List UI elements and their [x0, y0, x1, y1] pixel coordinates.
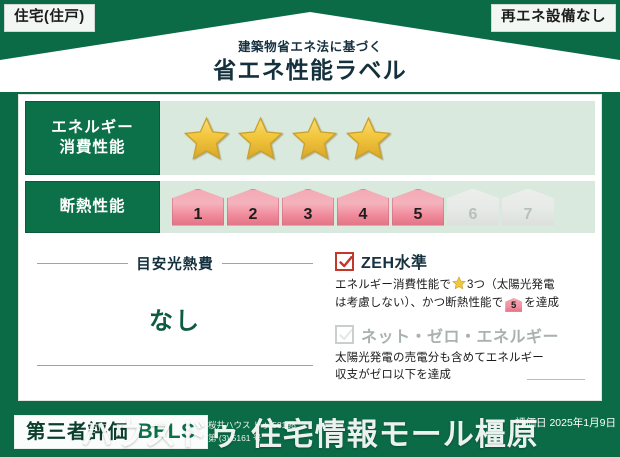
zeh-title: ZEH水準 [361, 249, 428, 273]
standards-panel: ZEH水準 エネルギー消費性能で3つ（太陽光発電は考慮しない）、かつ断熱性能で5… [325, 241, 595, 394]
rule-left [37, 263, 128, 264]
insulation-level-7: 7 [502, 189, 554, 226]
zeh-checkbox[interactable] [335, 252, 354, 271]
energy-performance-row: エネルギー 消費性能 [25, 101, 595, 175]
net-zero-title-row: ネット・ゼロ・エネルギー [335, 323, 591, 347]
insulation-level-number: 4 [359, 207, 368, 223]
inline-insulation-badge: 5 [505, 298, 522, 312]
evaluation-date: 評価日 2025年1月9日 [515, 416, 616, 431]
net-zero-checkbox[interactable] [335, 325, 354, 344]
energy-label-line1: エネルギー [51, 119, 134, 136]
star-icon [346, 116, 391, 161]
insulation-level-number: 5 [414, 207, 423, 223]
insulation-level-4: 4 [337, 189, 389, 226]
insulation-level-2: 2 [227, 189, 279, 226]
footnote-rule [527, 379, 585, 380]
energy-star-rating [160, 101, 595, 175]
energy-cost-panel: 目安光熱費 なし [25, 241, 325, 394]
zeh-desc-b: 3つ（太陽光発電 [467, 279, 555, 291]
insulation-level-number: 6 [469, 207, 478, 223]
evaluation-date-label: 評価日 [515, 417, 547, 429]
insulation-level-number: 1 [194, 207, 203, 223]
inline-star-icon [452, 276, 466, 290]
net-zero-block: ネット・ゼロ・エネルギー 太陽光発電の売電分も含めてエネルギー収支がゼロ以下を達… [335, 323, 591, 386]
renewable-equipment-badge: 再エネ設備なし [491, 4, 616, 32]
energy-label-line2: 消費性能 [59, 139, 125, 156]
insulation-level-number: 7 [524, 207, 533, 223]
zeh-desc-c: は考慮しない）、かつ断熱性能で [335, 297, 503, 309]
evaluation-date-value: 2025年1月9日 [549, 417, 616, 429]
star-icon [184, 116, 229, 161]
insulation-level-1: 1 [172, 189, 224, 226]
building-type-badge: 住宅(住戸) [4, 4, 95, 32]
zeh-description: エネルギー消費性能で3つ（太陽光発電は考慮しない）、かつ断熱性能で5を達成 [335, 276, 591, 313]
label-title-block: 建築物省エネ法に基づく 省エネ性能ラベル [0, 40, 620, 83]
energy-performance-label: 住宅(住戸) 再エネ設備なし 建築物省エネ法に基づく 省エネ性能ラベル エネルギ… [0, 0, 620, 457]
lower-section: 目安光熱費 なし ZEH水準 [25, 241, 595, 394]
energy-cost-header: 目安光熱費 [37, 253, 313, 274]
bels-jp-label: 第三者評価 [26, 421, 129, 444]
energy-performance-label: エネルギー 消費性能 [25, 101, 160, 175]
label-title: 省エネ性能ラベル [0, 57, 620, 83]
energy-cost-title: 目安光熱費 [136, 253, 214, 274]
insulation-level-number: 2 [249, 207, 258, 223]
zeh-block: ZEH水準 エネルギー消費性能で3つ（太陽光発電は考慮しない）、かつ断熱性能で5… [335, 249, 591, 313]
insulation-level-5: 5 [392, 189, 444, 226]
insulation-level-scale: 1234567 [160, 181, 595, 233]
energy-cost-bottom-rule [37, 365, 313, 366]
label-card: エネルギー 消費性能 断熱性能 1234567 目安光熱費 [18, 94, 602, 401]
label-subtitle: 建築物省エネ法に基づく [0, 40, 620, 55]
insulation-performance-label: 断熱性能 [25, 181, 160, 233]
net-zero-title: ネット・ゼロ・エネルギー [361, 323, 559, 347]
insulation-performance-row: 断熱性能 1234567 [25, 181, 595, 233]
insulation-level-3: 3 [282, 189, 334, 226]
star-icon [292, 116, 337, 161]
bels-certification-box: 第三者評価 BELS [14, 415, 208, 449]
footer-bar: 第三者評価 BELS 桜井ハウス ドゥ 58198 第 (3) 5161 号 評… [0, 408, 620, 457]
net-zero-desc-line2: 収支がゼロ以下を達成 [335, 369, 451, 381]
insulation-level-number: 3 [304, 207, 313, 223]
energy-cost-value: なし [37, 301, 313, 336]
star-icon [238, 116, 283, 161]
zeh-title-row: ZEH水準 [335, 249, 591, 273]
bels-en-label: BELS [138, 419, 196, 444]
zeh-desc-d: を達成 [524, 297, 559, 309]
rule-right [222, 263, 313, 264]
zeh-desc-a: エネルギー消費性能で [335, 279, 451, 291]
net-zero-desc-line1: 太陽光発電の売電分も含めてエネルギー [335, 352, 544, 364]
footer-meta-line2: 第 (3) 5161 号 [208, 432, 610, 445]
insulation-level-6: 6 [447, 189, 499, 226]
